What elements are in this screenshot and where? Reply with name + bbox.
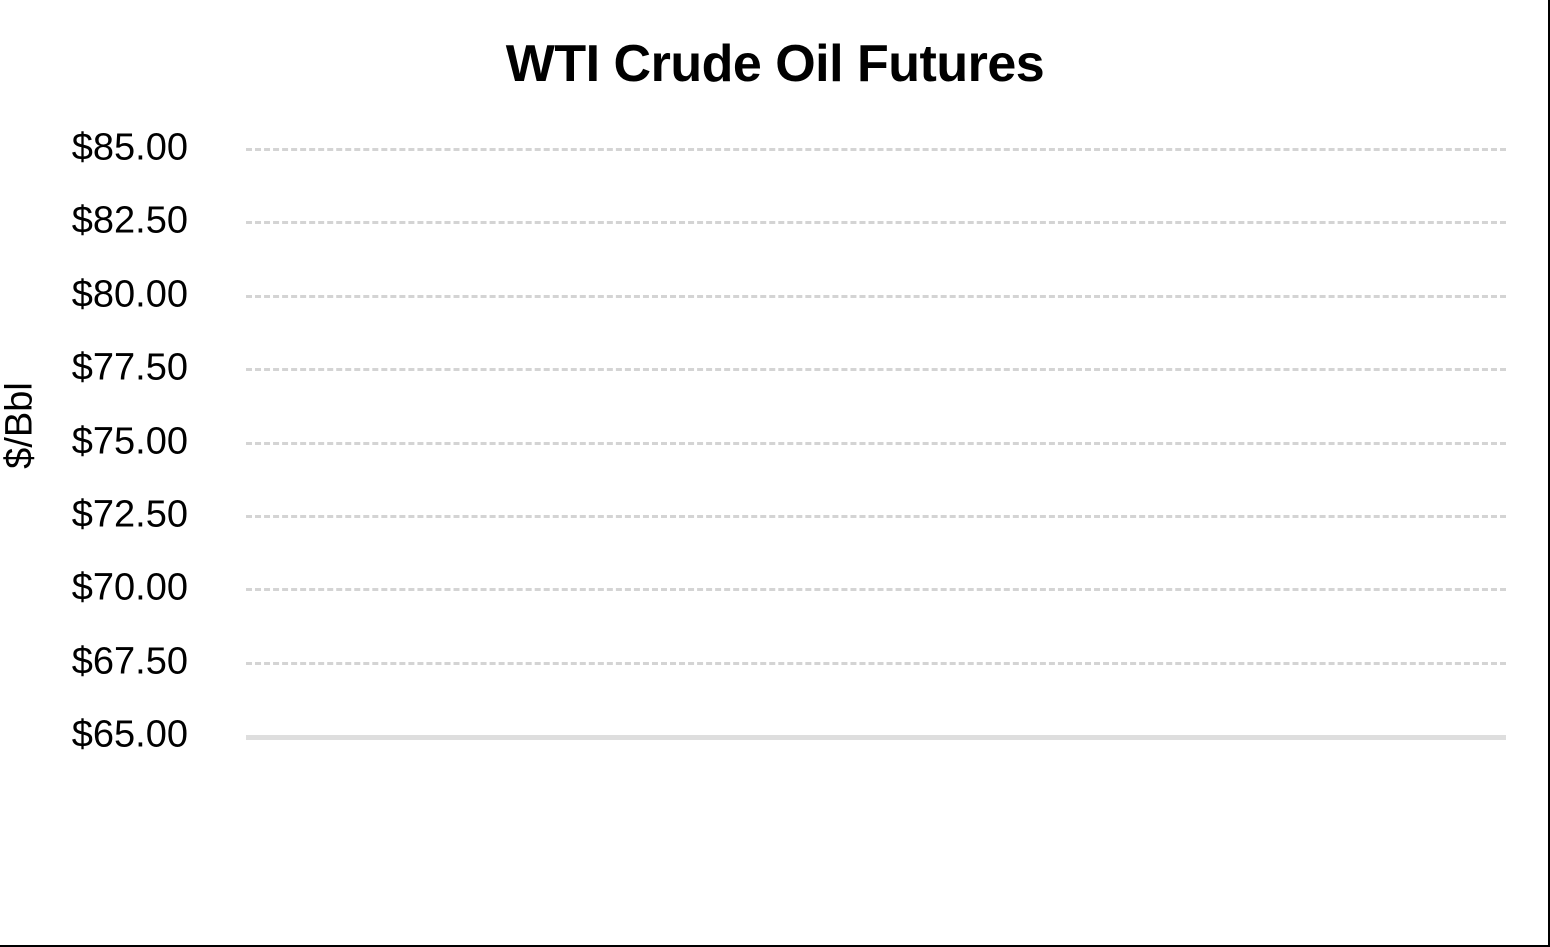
gridline	[246, 588, 1506, 591]
chart-container: WTI Crude Oil Futures $/Bbl $85.00$82.50…	[0, 0, 1550, 947]
gridline	[246, 221, 1506, 224]
y-axis-tick-label: $82.50	[0, 200, 188, 243]
gridline	[246, 442, 1506, 445]
y-axis-tick-label: $77.50	[0, 347, 188, 390]
gridline	[246, 148, 1506, 151]
gridline	[246, 515, 1506, 518]
y-axis-tick-label: $72.50	[0, 493, 188, 536]
y-axis-tick-label: $70.00	[0, 567, 188, 610]
y-axis-tick-label: $75.00	[0, 420, 188, 463]
gridline	[246, 368, 1506, 371]
gridline	[246, 295, 1506, 298]
y-axis-tick-label: $85.00	[0, 127, 188, 170]
gridline	[246, 662, 1506, 665]
y-axis-tick-label: $65.00	[0, 714, 188, 757]
chart-title: WTI Crude Oil Futures	[0, 34, 1550, 94]
plot-area: $85.00$82.50$80.00$77.50$75.00$72.50$70.…	[246, 148, 1506, 740]
y-axis-tick-label: $80.00	[0, 273, 188, 316]
gridline	[246, 735, 1506, 740]
y-axis-tick-label: $67.50	[0, 640, 188, 683]
